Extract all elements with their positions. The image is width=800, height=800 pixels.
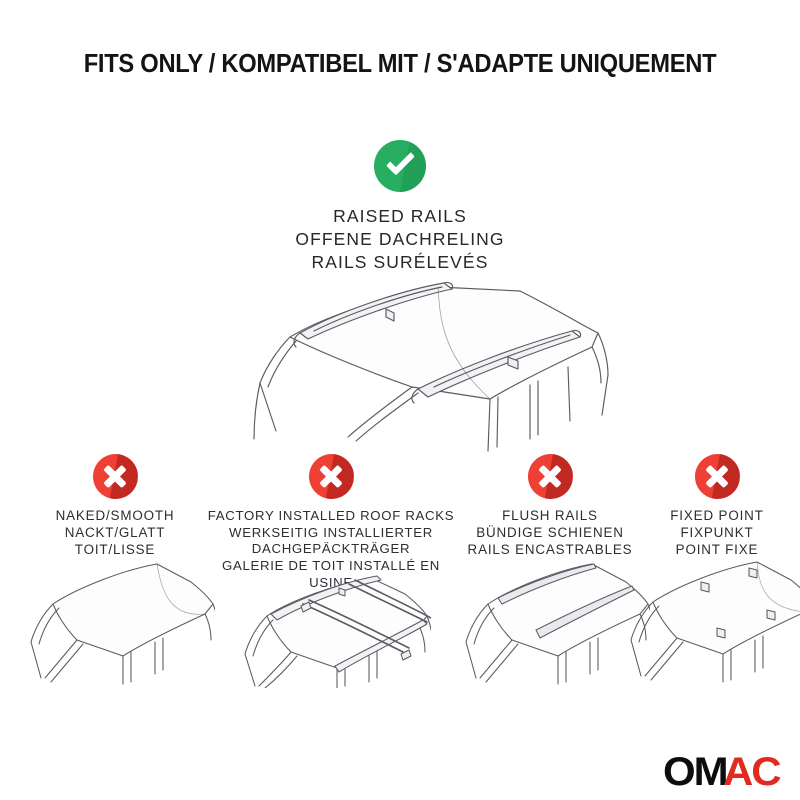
item-labels: FIXED POINT FIXPUNKT POINT FIXE (634, 508, 800, 559)
item-label-de: FIXPUNKT (634, 525, 800, 542)
incompatible-item-naked-smooth: NAKED/SMOOTH NACKT/GLATT TOIT/LISSE (6, 452, 224, 559)
compatibility-infographic: FITS ONLY / KOMPATIBEL MIT / S'ADAPTE UN… (0, 0, 800, 800)
logo-text-red: AC (723, 752, 779, 792)
compatible-label-en: RAISED RAILS (0, 205, 800, 228)
incompatible-section: NAKED/SMOOTH NACKT/GLATT TOIT/LISSE (0, 452, 800, 702)
car-roof-factory-racks-illustration (231, 570, 431, 688)
page-title: FITS ONLY / KOMPATIBEL MIT / S'ADAPTE UN… (28, 50, 772, 79)
x-circle-icon (695, 454, 740, 499)
item-label-de-2: DACHGEPÄCKTRÄGER (200, 541, 462, 558)
compatible-labels: RAISED RAILS OFFENE DACHRELING RAILS SUR… (0, 205, 800, 274)
x-circle-icon (93, 454, 138, 499)
x-circle-icon (528, 454, 573, 499)
compatible-label-de: OFFENE DACHRELING (0, 228, 800, 251)
x-circle-icon (309, 454, 354, 499)
incompatible-item-fixed-point: FIXED POINT FIXPUNKT POINT FIXE (634, 452, 800, 559)
incompatible-item-flush-rails: FLUSH RAILS BÜNDIGE SCHIENEN RAILS ENCAS… (452, 452, 648, 559)
check-circle-icon (374, 140, 426, 192)
incompatible-item-factory-racks: FACTORY INSTALLED ROOF RACKS WERKSEITIG … (200, 452, 462, 591)
item-label-de: NACKT/GLATT (6, 525, 224, 542)
omac-logo: OMAC (663, 752, 791, 792)
item-labels: NAKED/SMOOTH NACKT/GLATT TOIT/LISSE (6, 508, 224, 559)
item-label-en: FIXED POINT (634, 508, 800, 525)
car-roof-raised-rails-illustration (190, 275, 610, 455)
item-labels: FLUSH RAILS BÜNDIGE SCHIENEN RAILS ENCAS… (452, 508, 648, 559)
compatible-section: RAISED RAILS OFFENE DACHRELING RAILS SUR… (0, 140, 800, 274)
car-roof-fixed-point-illustration (617, 556, 800, 686)
item-label-en: FLUSH RAILS (452, 508, 648, 525)
item-label-de: BÜNDIGE SCHIENEN (452, 525, 648, 542)
item-label-en: NAKED/SMOOTH (6, 508, 224, 525)
logo-text-dark: OM (663, 752, 726, 792)
car-roof-naked-illustration (15, 556, 215, 686)
item-label-de-1: WERKSEITIG INSTALLIERTER (200, 525, 462, 542)
item-label-en: FACTORY INSTALLED ROOF RACKS (200, 508, 462, 525)
compatible-label-fr: RAILS SURÉLEVÉS (0, 251, 800, 274)
